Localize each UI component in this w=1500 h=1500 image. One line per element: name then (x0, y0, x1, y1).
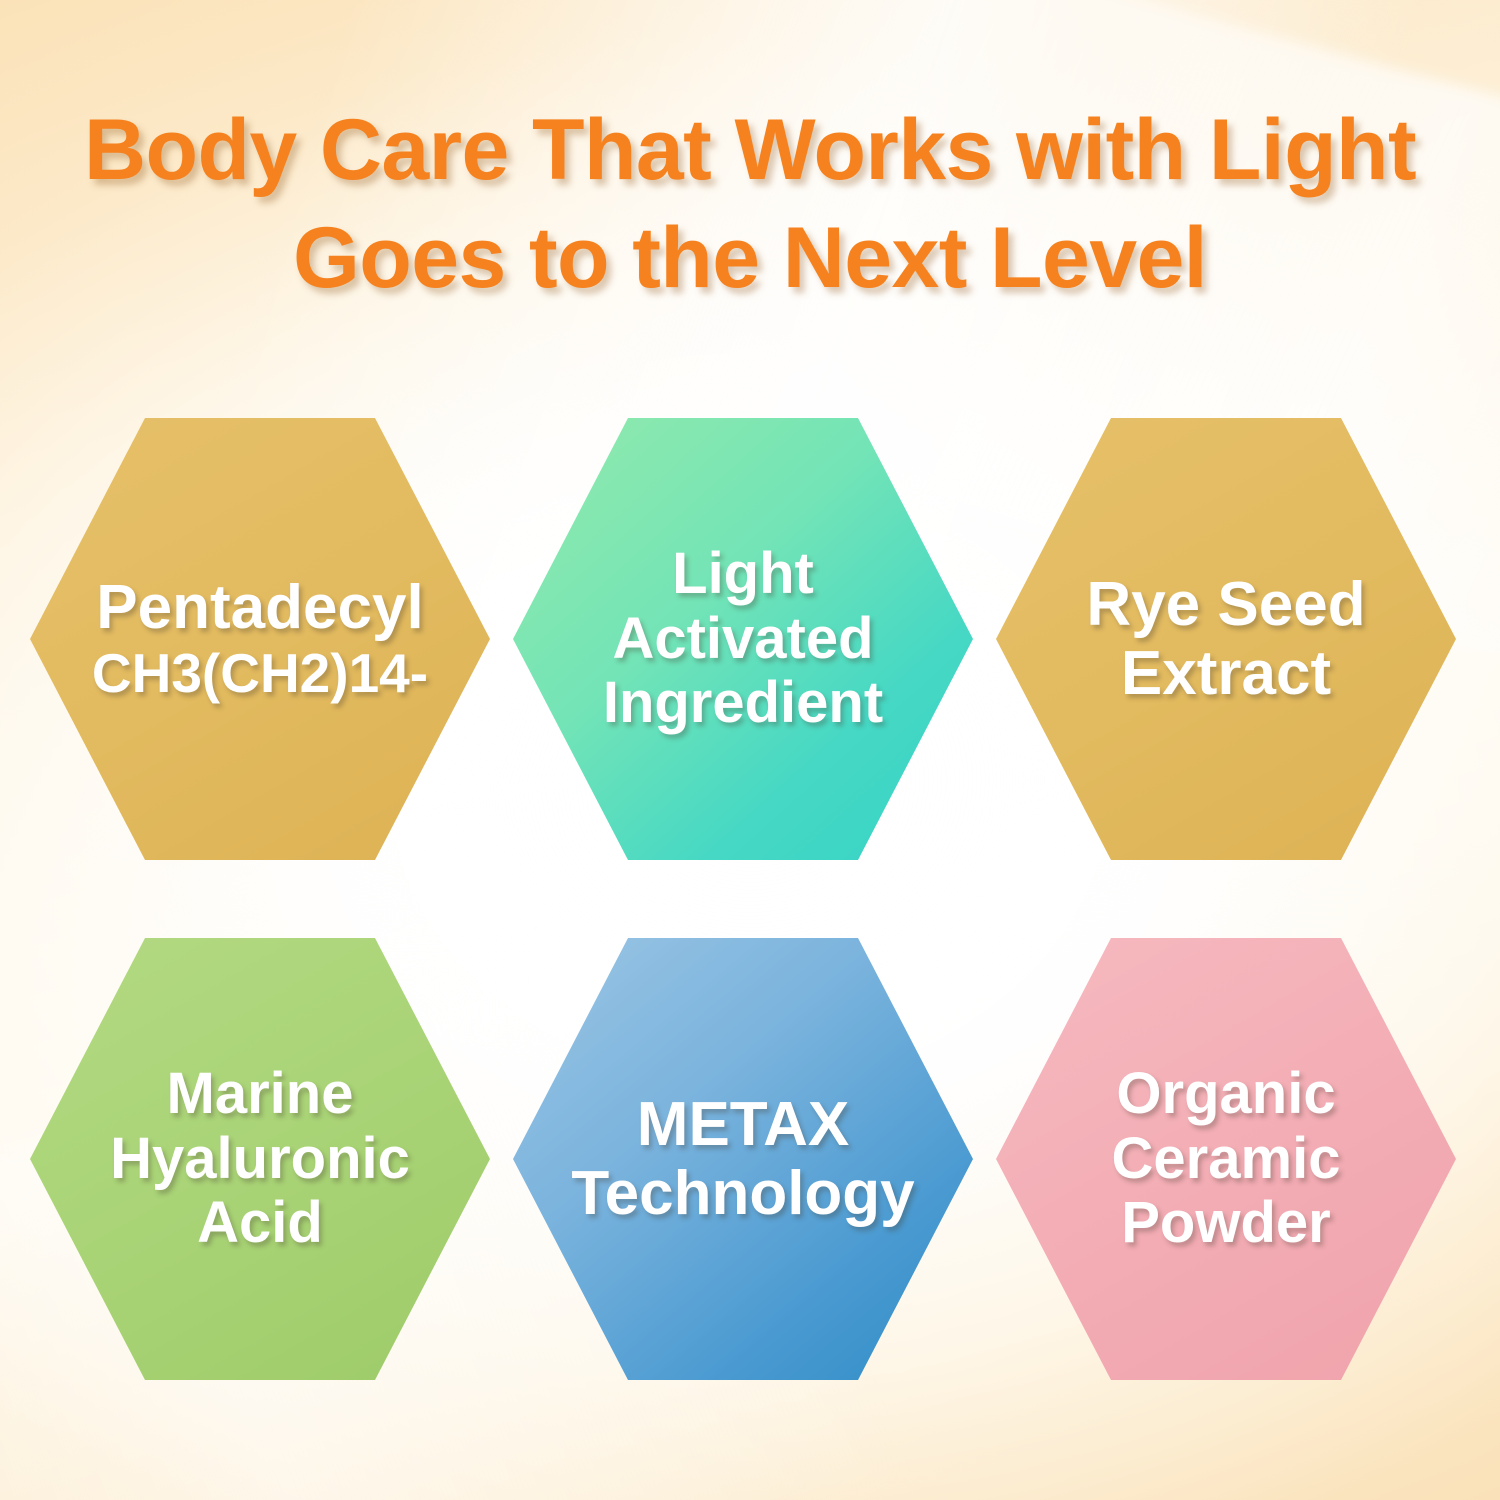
hex-text-line-1: Organic (1042, 1062, 1410, 1127)
poster-headline: Body Care That Works with Light Goes to … (0, 96, 1500, 313)
hex-text-line-3: Acid (76, 1191, 444, 1256)
headline-line-2: Goes to the Next Level (0, 204, 1500, 312)
hex-text-line-2: Ceramic (1042, 1127, 1410, 1192)
headline-line-1: Body Care That Works with Light (0, 96, 1500, 204)
hex-label-marine-hyaluronic-acid: Marine Hyaluronic Acid (76, 1062, 444, 1257)
hex-text-line-2: Activated (559, 607, 927, 672)
hex-text-line-1: METAX (559, 1090, 927, 1159)
hex-label-light-activated-ingredient: Light Activated Ingredient (559, 542, 927, 737)
hex-label-metax-technology: METAX Technology (559, 1090, 927, 1229)
hex-text-line-1: Rye Seed (1042, 570, 1410, 639)
hex-card-pentadecyl[interactable]: Pentadecyl CH3(CH2)14- (30, 418, 490, 860)
hex-text-line-3: Ingredient (559, 671, 927, 736)
hex-card-metax-technology[interactable]: METAX Technology (513, 938, 973, 1380)
hex-text-line-1: Light (559, 542, 927, 607)
hex-text-line-3: Powder (1042, 1191, 1410, 1256)
hex-card-organic-ceramic-powder[interactable]: Organic Ceramic Powder (996, 938, 1456, 1380)
hex-card-light-activated-ingredient[interactable]: Light Activated Ingredient (513, 418, 973, 860)
hex-card-marine-hyaluronic-acid[interactable]: Marine Hyaluronic Acid (30, 938, 490, 1380)
hex-text-line-2: Extract (1042, 639, 1410, 708)
hex-text-line-2: CH3(CH2)14- (76, 643, 444, 705)
hex-label-organic-ceramic-powder: Organic Ceramic Powder (1042, 1062, 1410, 1257)
infographic-poster: Body Care That Works with Light Goes to … (0, 0, 1500, 1500)
hex-text-line-1: Marine (76, 1062, 444, 1127)
hex-text-line-2: Hyaluronic (76, 1127, 444, 1192)
hex-label-rye-seed-extract: Rye Seed Extract (1042, 570, 1410, 709)
hex-label-pentadecyl: Pentadecyl CH3(CH2)14- (76, 573, 444, 704)
hex-text-line-1: Pentadecyl (76, 573, 444, 642)
hex-card-rye-seed-extract[interactable]: Rye Seed Extract (996, 418, 1456, 860)
hex-text-line-2: Technology (559, 1159, 927, 1228)
